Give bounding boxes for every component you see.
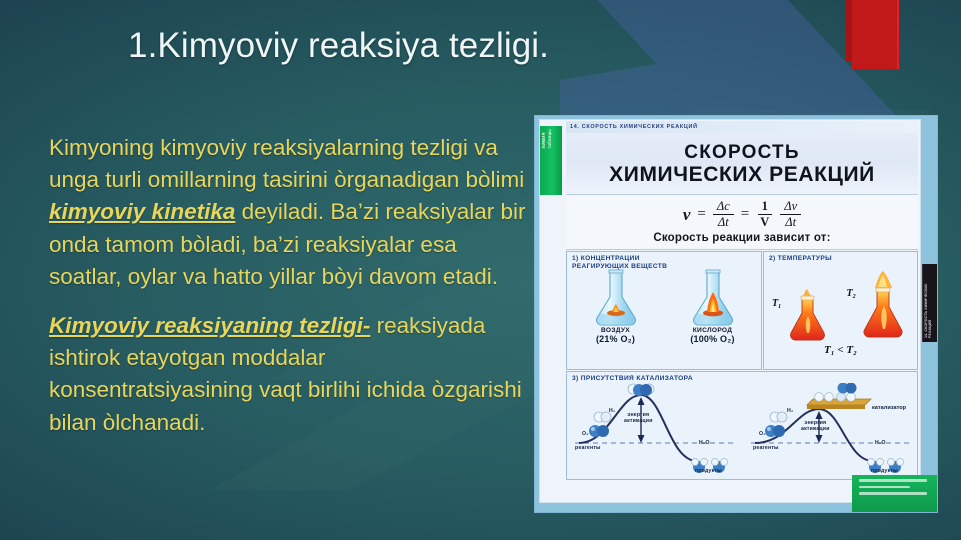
poster-heading-line2: ХИМИЧЕСКИХ РЕАКЦИЙ [609, 163, 875, 186]
flask-air: ВОЗДУХ (21% O₂) [585, 266, 647, 344]
temperature-label-t2: T₂ [846, 288, 856, 299]
red-accent-bar [852, 0, 899, 69]
formula-equals-2: = [741, 206, 749, 223]
h2o-label-2: H₂O [875, 440, 886, 446]
flask-air-value: (21% O₂) [596, 334, 635, 344]
activation-energy-label-2: энергия активации [801, 421, 830, 433]
formula-frac3-den: Δt [781, 215, 800, 229]
poster-section-catalyst: 3) ПРИСУТСТВИЯ КАТАЛИЗАТОРА [566, 371, 918, 480]
formula-frac1-num: Δc [713, 200, 734, 215]
section3-diagram-area: H₂ O₂ энергия активации реагенты H₂O про… [567, 383, 917, 475]
flask-air-label: ВОЗДУХ [601, 327, 630, 334]
poster-side-tab-text: ХИМИЯ таблицы [540, 126, 554, 152]
temperature-label-t1: T₁ [772, 298, 782, 309]
flask-oxygen-icon [682, 266, 744, 326]
flask-air-icon [585, 266, 647, 326]
flask-oxygen-label: КИСЛОРОД [693, 327, 733, 334]
formula-frac3-num: Δv [780, 200, 801, 215]
poster-topline-label: 14. СКОРОСТЬ ХИМИЧЕСКИХ РЕАКЦИЙ [566, 121, 918, 133]
poster-footer-badge [852, 475, 937, 512]
transition-molecules-1 [628, 384, 654, 396]
poster-right-tab: 14. СКОРОСТЬ ХИМИЧЕСКИХ РЕАКЦИЙ [922, 264, 937, 342]
formula-variable: v [683, 205, 691, 225]
formula-equals-1: = [697, 206, 705, 223]
h2-label-1: H₂ [609, 408, 615, 414]
page-title: 1.Kimyoviy reaksiya tezligi. [128, 24, 549, 68]
reactant-molecules-2 [765, 412, 787, 437]
flask-oxygen: КИСЛОРОД (100% O₂) [682, 266, 744, 344]
hot-flask-1-icon [785, 283, 831, 343]
h2-label-2: H₂ [787, 408, 793, 414]
formula-fraction-1: Δc Δt [713, 200, 734, 229]
formula-frac2-den: V [756, 215, 773, 229]
footer-line-3 [859, 492, 927, 495]
formula-frac1-den: Δt [714, 215, 733, 229]
poster-section-concentration: 1) КОНЦЕНТРАЦИИ РЕАГИРУЮЩИХ ВЕЩЕСТВ [566, 251, 762, 370]
products-label-2: продукты [871, 468, 898, 474]
transition-molecules-2 [838, 383, 857, 394]
energy-diagram-no-catalyst [569, 383, 741, 475]
paragraph-2: Kimyoviy reaksiyaning tezligi- reaksiyad… [49, 310, 527, 439]
paragraph-1: Kimyoning kimyoviy reaksiyalarning tezli… [49, 132, 527, 293]
activation-energy-label-1: энергия активации [624, 413, 653, 425]
hot-flask-2: T₂ [846, 271, 909, 343]
p1-emphasis-term: kimyoviy kinetika [49, 199, 235, 224]
flask-oxygen-value: (100% O₂) [690, 334, 734, 344]
formula-fraction-2: 1 V [756, 200, 773, 229]
poster-heading: СКОРОСТЬ ХИМИЧЕСКИХ РЕАКЦИЙ [566, 133, 918, 195]
hot-flask-1: T₁ [772, 283, 831, 343]
p1-run-1: Kimyoning kimyoviy reaksiyalarning tezli… [49, 135, 524, 192]
energy-diagram-with-catalyst [745, 383, 917, 475]
poster-heading-line1: СКОРОСТЬ [684, 142, 799, 163]
section1-flask-row: ВОЗДУХ (21% O₂) КИСЛОР [567, 274, 761, 344]
slide-canvas: 1.Kimyoviy reaksiya tezligi. Kimyoning k… [0, 0, 961, 540]
o2-label-2: O₂ [759, 431, 766, 437]
poster-right-tab-text: 14. СКОРОСТЬ ХИМИЧЕСКИХ РЕАКЦИЙ [923, 264, 933, 342]
o2-label-1: O₂ [582, 431, 589, 437]
formula-fraction-3: Δv Δt [780, 200, 801, 229]
poster-inner-frame: 14. СКОРОСТЬ ХИМИЧЕСКИХ РЕАКЦИЙ СКОРОСТЬ… [539, 119, 921, 503]
poster-section-temperature: 2) ТЕМПЕРАТУРЫ T₁ [763, 251, 918, 370]
rate-formula: v = Δc Δt = 1 V Δv Δt [683, 200, 801, 229]
body-text-column: Kimyoning kimyoviy reaksiyalarning tezli… [49, 132, 527, 439]
p2-emphasis-term: Kimyoviy reaksiyaning tezligi- [49, 313, 370, 338]
chemistry-poster-image: 14. СКОРОСТЬ ХИМИЧЕСКИХ РЕАКЦИЙ СКОРОСТЬ… [534, 115, 938, 513]
formula-caption: Скорость реакции зависит от: [653, 232, 830, 244]
section2-flask-row: T₁ [764, 265, 917, 343]
section2-title: 2) ТЕМПЕРАТУРЫ [764, 252, 917, 263]
poster-formula-band: v = Δc Δt = 1 V Δv Δt Ско [566, 195, 918, 250]
footer-line-2 [859, 486, 910, 489]
section3-title: 3) ПРИСУТСТВИЯ КАТАЛИЗАТОРА [567, 372, 917, 383]
formula-frac2-num: 1 [758, 200, 772, 215]
poster-side-tab: ХИМИЯ таблицы [540, 126, 562, 195]
temperature-comparison: T₁ < T₂ [764, 344, 917, 356]
footer-line-1 [859, 479, 927, 482]
catalyst-label: катализатор [872, 405, 906, 411]
catalyst-surface [807, 393, 871, 409]
h2o-label-1: H₂O [699, 440, 710, 446]
hot-flask-2-icon [859, 271, 909, 343]
reagents-label-1: реагенты [575, 445, 601, 451]
reagents-label-2: реагенты [753, 445, 779, 451]
products-label-1: продукты [695, 468, 722, 474]
